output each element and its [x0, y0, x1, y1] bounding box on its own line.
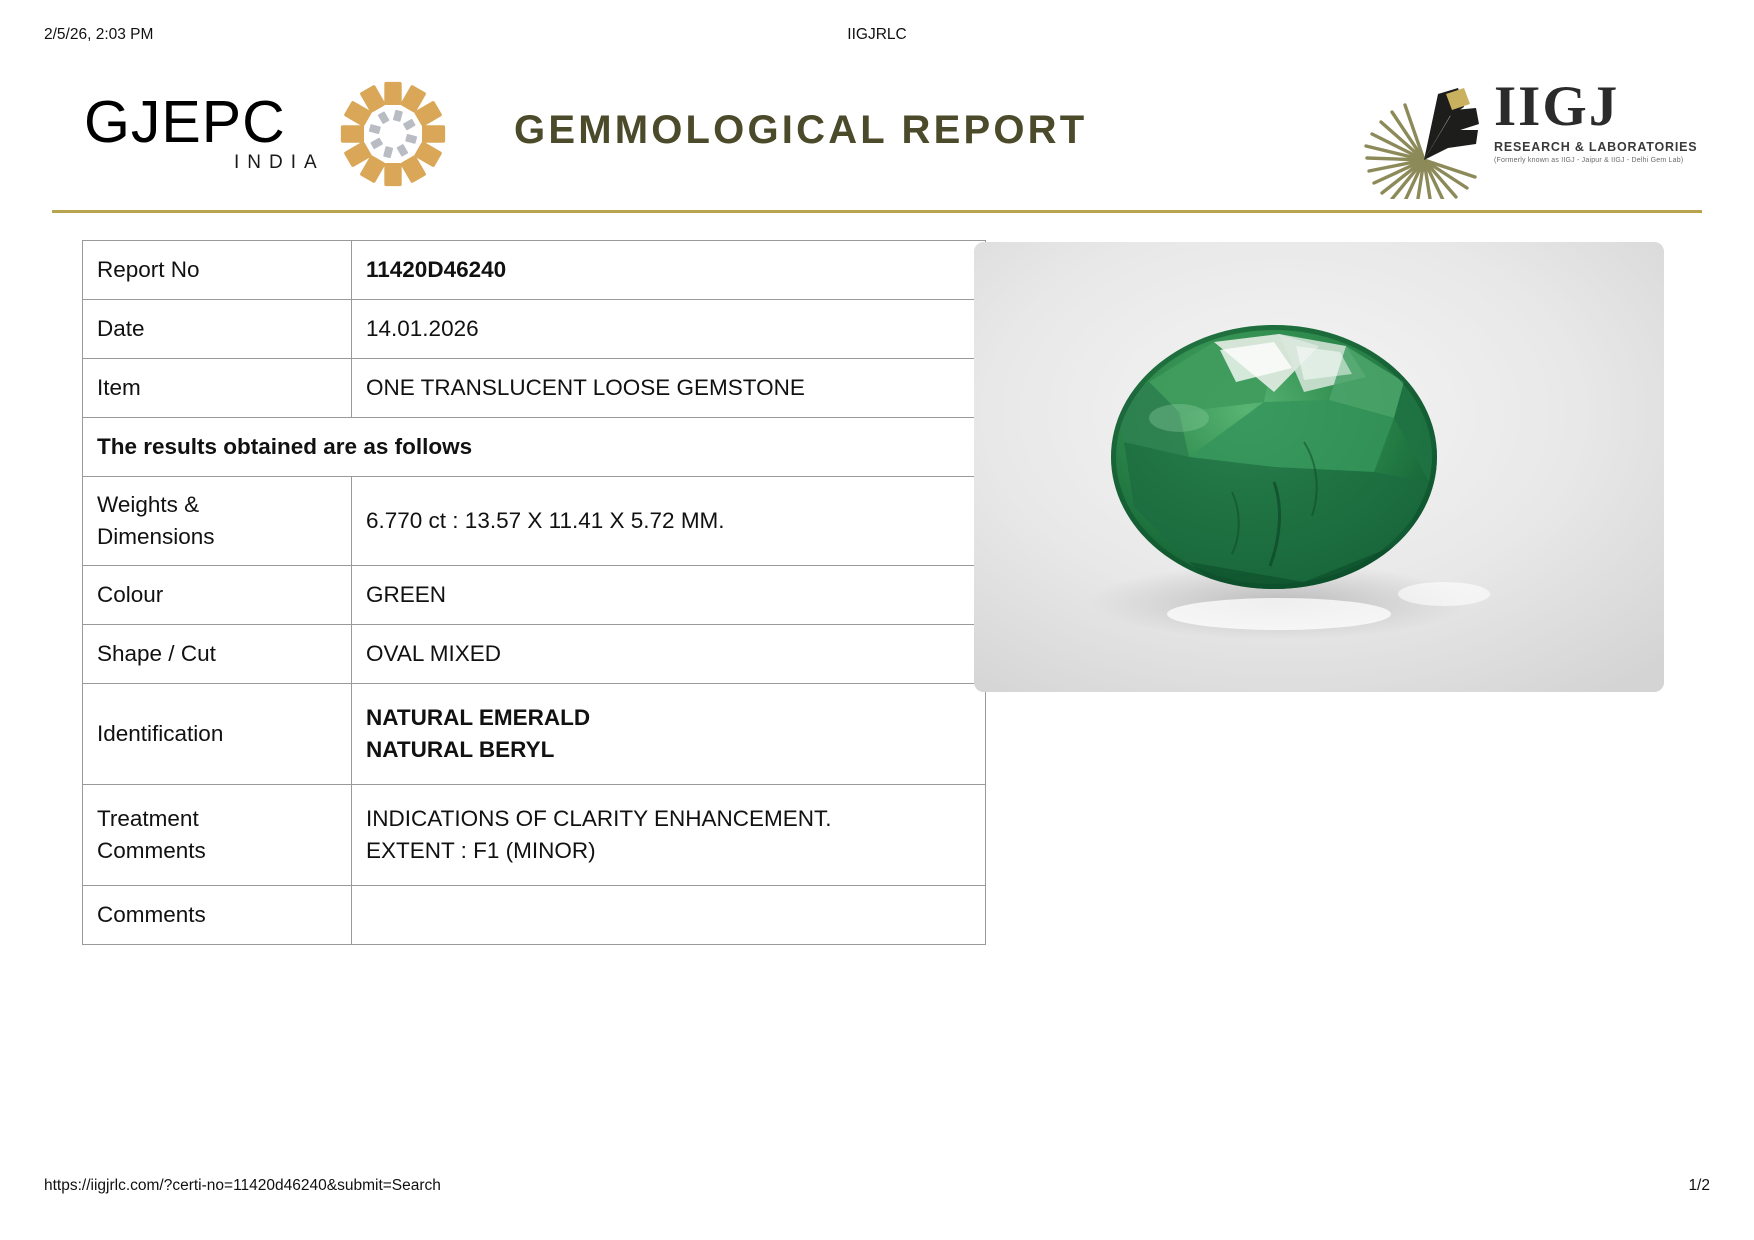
value-colour: GREEN: [352, 566, 986, 625]
iigj-fineprint: (Formerly known as IIGJ - Jaipur & IIGJ …: [1494, 157, 1692, 164]
table-row: Colour GREEN: [83, 566, 986, 625]
page-title: GEMMOLOGICAL REPORT: [514, 108, 1087, 153]
table-row-results-banner: The results obtained are as follows: [83, 418, 986, 477]
header-divider: [52, 210, 1702, 213]
iigj-letters: IIGJ: [1494, 76, 1692, 138]
gemstone-photo: [974, 242, 1664, 692]
value-treatment-line1: INDICATIONS OF CLARITY ENHANCEMENT.: [366, 803, 971, 835]
label-treatment-line2: Comments: [97, 835, 337, 867]
table-row: Comments: [83, 886, 986, 945]
value-comments: [352, 886, 986, 945]
gjepc-burst-icon: [334, 78, 452, 190]
print-source-url: https://iigjrlc.com/?certi-no=11420d4624…: [44, 1177, 441, 1195]
label-report-no: Report No: [83, 241, 352, 300]
gjepc-subtitle: INDIA: [234, 152, 325, 174]
table-row: Treatment Comments INDICATIONS OF CLARIT…: [83, 785, 986, 886]
gjepc-wordmark: GJEPC: [84, 88, 286, 156]
label-colour: Colour: [83, 566, 352, 625]
label-item: Item: [83, 359, 352, 418]
results-banner: The results obtained are as follows: [83, 418, 986, 477]
value-date: 14.01.2026: [352, 300, 986, 359]
print-page-title: IIGJRLC: [0, 26, 1754, 44]
value-treatment-comments: INDICATIONS OF CLARITY ENHANCEMENT. EXTE…: [352, 785, 986, 886]
iigj-text-block: IIGJ RESEARCH & LABORATORIES (Formerly k…: [1494, 76, 1692, 164]
label-weights-dimensions: Weights & Dimensions: [83, 477, 352, 566]
report-details-table: Report No 11420D46240 Date 14.01.2026 It…: [82, 240, 986, 945]
label-identification: Identification: [83, 684, 352, 785]
print-page-number: 1/2: [1688, 1177, 1710, 1195]
label-weights-line1: Weights &: [97, 489, 337, 521]
browser-print-header: 2/5/26, 2:03 PM IIGJRLC: [0, 26, 1754, 48]
value-item: ONE TRANSLUCENT LOOSE GEMSTONE: [352, 359, 986, 418]
label-shape-cut: Shape / Cut: [83, 625, 352, 684]
report-header: GJEPC INDIA: [44, 62, 1710, 202]
label-weights-line2: Dimensions: [97, 521, 337, 553]
gemstone-illustration: [974, 242, 1664, 692]
value-identification-line2: NATURAL BERYL: [366, 734, 971, 766]
iigj-logo: IIGJ RESEARCH & LABORATORIES (Formerly k…: [1362, 68, 1692, 203]
browser-print-footer: https://iigjrlc.com/?certi-no=11420d4624…: [0, 1177, 1754, 1199]
iigj-burst-icon: [1362, 74, 1502, 199]
label-date: Date: [83, 300, 352, 359]
table-row: Shape / Cut OVAL MIXED: [83, 625, 986, 684]
value-identification-line1: NATURAL EMERALD: [366, 702, 971, 734]
iigj-subtitle: RESEARCH & LABORATORIES: [1494, 140, 1692, 154]
value-report-no: 11420D46240: [352, 241, 986, 300]
value-treatment-line2: EXTENT : F1 (MINOR): [366, 835, 971, 867]
value-identification: NATURAL EMERALD NATURAL BERYL: [352, 684, 986, 785]
table-row: Date 14.01.2026: [83, 300, 986, 359]
table-row: Identification NATURAL EMERALD NATURAL B…: [83, 684, 986, 785]
label-treatment-line1: Treatment: [97, 803, 337, 835]
report-page: GJEPC INDIA: [44, 62, 1710, 1092]
label-comments: Comments: [83, 886, 352, 945]
gjepc-logo: GJEPC INDIA: [84, 78, 474, 188]
label-treatment-comments: Treatment Comments: [83, 785, 352, 886]
value-weights-dimensions: 6.770 ct : 13.57 X 11.41 X 5.72 MM.: [352, 477, 986, 566]
table-row: Report No 11420D46240: [83, 241, 986, 300]
table-row: Item ONE TRANSLUCENT LOOSE GEMSTONE: [83, 359, 986, 418]
table-row: Weights & Dimensions 6.770 ct : 13.57 X …: [83, 477, 986, 566]
value-shape-cut: OVAL MIXED: [352, 625, 986, 684]
